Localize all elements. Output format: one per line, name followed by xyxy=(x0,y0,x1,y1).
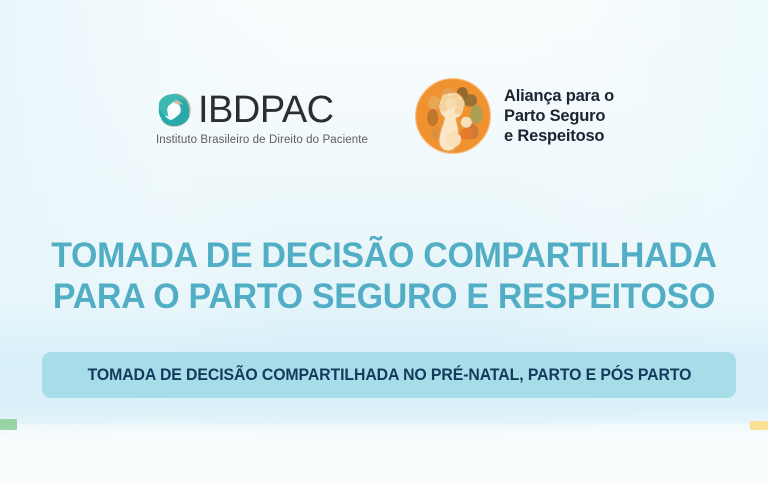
ibdpac-tagline: Instituto Brasileiro de Direito do Pacie… xyxy=(156,133,368,147)
logo-row: IBDPAC Instituto Brasileiro de Direito d… xyxy=(0,68,768,164)
alianca-pregnant-woman-emblem-icon xyxy=(414,77,492,155)
subtitle-banner-text: TOMADA DE DECISÃO COMPARTILHADA NO PRÉ-N… xyxy=(87,365,691,385)
page-title: TOMADA DE DECISÃO COMPARTILHADA PARA O P… xyxy=(12,235,757,317)
background-bottom-fade xyxy=(0,424,768,482)
ibdpac-wordmark: IBDPAC xyxy=(198,90,334,130)
ibdpac-swirl-mark-icon xyxy=(154,90,194,130)
subtitle-banner: TOMADA DE DECISÃO COMPARTILHADA NO PRÉ-N… xyxy=(42,352,736,398)
ibdpac-logo: IBDPAC Instituto Brasileiro de Direito d… xyxy=(154,86,368,147)
ibdpac-logo-top: IBDPAC xyxy=(154,90,334,130)
presentation-slide: IBDPAC Instituto Brasileiro de Direito d… xyxy=(0,0,768,482)
accent-bar-left xyxy=(0,419,17,430)
accent-bar-right xyxy=(750,421,768,430)
alianca-logo: Aliança para o Parto Seguro e Respeitoso xyxy=(414,77,614,155)
alianca-logo-text: Aliança para o Parto Seguro e Respeitoso xyxy=(504,86,614,146)
